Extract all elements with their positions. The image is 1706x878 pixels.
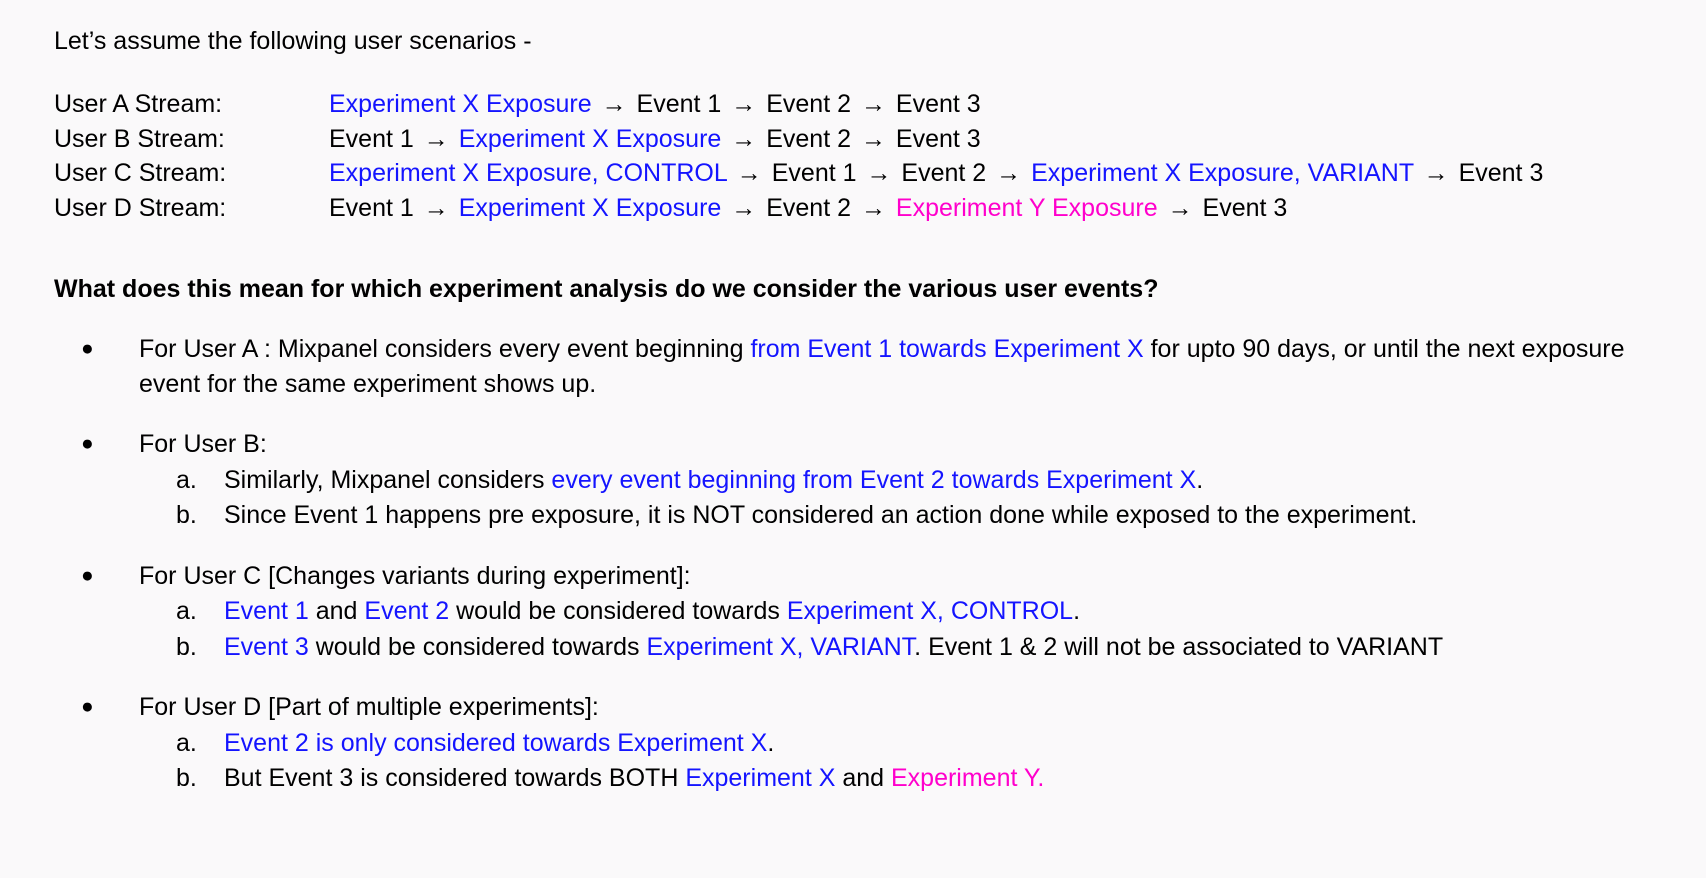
bullet-group-user-c: ●For User C [Changes variants during exp… [54,559,1654,665]
stream-segment-2: Event 1 [772,159,857,187]
sub-list-item-text: But Event 3 is considered towards BOTH E… [224,761,1654,796]
sub-segment-3: . Event 1 & 2 will not be associated to … [914,633,1443,661]
arrow-icon: → [858,194,889,222]
sub-list-item-text: Similarly, Mixpanel considers every even… [224,463,1654,498]
sub-list-item: a.Event 2 is only considered towards Exp… [54,726,1654,761]
list-item: ●For User D [Part of multiple experiment… [54,690,1654,725]
bullet-dot-icon: ● [81,690,94,725]
sub-segment-0: Event 3 [224,633,309,661]
user-streams-block: User A Stream:Experiment X Exposure → Ev… [54,87,1543,225]
stream-label: User C Stream: [54,156,329,191]
arrow-icon: → [1421,159,1452,187]
sub-list-marker: a. [176,594,197,629]
stream-segment-8: Event 3 [1203,194,1288,222]
sub-list-item-text: Event 3 would be considered towards Expe… [224,630,1654,665]
stream-segment-0: Experiment X Exposure [329,90,592,118]
sub-list-marker: b. [176,630,197,665]
list-item: ●For User A : Mixpanel considers every e… [54,332,1654,401]
bullet-dot-icon: ● [81,559,94,594]
sub-list-item-text: Event 2 is only considered towards Exper… [224,726,1654,761]
bullet-segment-1: from Event 1 towards Experiment X [750,335,1143,363]
bullet-segment-0: For User A : Mixpanel considers every ev… [139,335,750,363]
arrow-icon: → [858,90,889,118]
sub-list-item: b.Event 3 would be considered towards Ex… [54,630,1654,665]
bullet-group-user-a: ●For User A : Mixpanel considers every e… [54,332,1654,401]
arrow-icon: → [728,125,759,153]
arrow-icon: → [863,159,894,187]
sub-list-item-text: Since Event 1 happens pre exposure, it i… [224,498,1654,533]
stream-segment-0: Event 1 [329,125,414,153]
list-item-text: For User B: [139,427,1654,462]
sub-list-item-text: Event 1 and Event 2 would be considered … [224,594,1654,629]
stream-segment-4: Event 2 [766,194,851,222]
question-heading: What does this mean for which experiment… [54,272,1158,306]
sub-segment-1: . [767,729,774,757]
sub-segment-5: . [1073,597,1080,625]
sub-segment-0: Event 2 is only considered towards Exper… [224,729,767,757]
stream-segment-4: Event 2 [766,125,851,153]
stream-sequence: Event 1 → Experiment X Exposure → Event … [329,122,981,157]
sub-list-marker: b. [176,761,197,796]
sub-segment-0: But Event 3 is considered towards BOTH [224,764,685,792]
arrow-icon: → [421,194,452,222]
stream-row: User A Stream:Experiment X Exposure → Ev… [54,87,1543,122]
arrow-icon: → [858,125,889,153]
stream-label: User B Stream: [54,122,329,157]
stream-segment-6: Experiment X Exposure, VARIANT [1031,159,1414,187]
sub-segment-0: Similarly, Mixpanel considers [224,466,551,494]
stream-segment-0: Event 1 [329,194,414,222]
intro-text: Let’s assume the following user scenario… [54,27,532,55]
stream-segment-4: Event 2 [766,90,851,118]
sub-segment-1: and [309,597,365,625]
bullet-segment-0: For User C [Changes variants during expe… [139,562,691,590]
stream-row: User D Stream:Event 1 → Experiment X Exp… [54,191,1543,226]
arrow-icon: → [728,194,759,222]
sub-segment-2: Event 2 [364,597,449,625]
sub-list-marker: b. [176,498,197,533]
arrow-icon: → [421,125,452,153]
sub-list-item: a.Event 1 and Event 2 would be considere… [54,594,1654,629]
stream-segment-6: Experiment Y Exposure [896,194,1158,222]
sub-segment-0: Event 1 [224,597,309,625]
list-item: ●For User B: [54,427,1654,462]
list-item-text: For User C [Changes variants during expe… [139,559,1654,594]
bullet-dot-icon: ● [81,332,94,367]
stream-label: User A Stream: [54,87,329,122]
stream-segment-6: Event 3 [896,90,981,118]
arrow-icon: → [1165,194,1196,222]
sub-segment-2: and [835,764,891,792]
sub-list-marker: a. [176,726,197,761]
sub-list-marker: a. [176,463,197,498]
question-text: What does this mean for which experiment… [54,275,1158,303]
bullet-group-user-d: ●For User D [Part of multiple experiment… [54,690,1654,796]
arrow-icon: → [599,90,630,118]
sub-list-item: b.But Event 3 is considered towards BOTH… [54,761,1654,796]
stream-sequence: Experiment X Exposure → Event 1 → Event … [329,87,981,122]
sub-segment-2: Experiment X, VARIANT [646,633,914,661]
stream-sequence: Event 1 → Experiment X Exposure → Event … [329,191,1287,226]
sub-list-item: a.Similarly, Mixpanel considers every ev… [54,463,1654,498]
explanation-list: ●For User A : Mixpanel considers every e… [54,332,1654,796]
sub-list-item: b.Since Event 1 happens pre exposure, it… [54,498,1654,533]
sub-segment-4: Experiment X, CONTROL [787,597,1073,625]
arrow-icon: → [993,159,1024,187]
list-item-text: For User D [Part of multiple experiments… [139,690,1654,725]
sub-segment-1: every event beginning from Event 2 towar… [551,466,1196,494]
sub-segment-1: would be considered towards [309,633,647,661]
stream-segment-6: Event 3 [896,125,981,153]
stream-segment-2: Experiment X Exposure [459,125,722,153]
list-item: ●For User C [Changes variants during exp… [54,559,1654,594]
list-item-text: For User A : Mixpanel considers every ev… [139,332,1654,401]
stream-segment-8: Event 3 [1459,159,1544,187]
arrow-icon: → [728,90,759,118]
stream-segment-0: Experiment X Exposure, CONTROL [329,159,727,187]
sub-segment-3: Experiment Y. [891,764,1044,792]
bullet-dot-icon: ● [81,427,94,462]
stream-sequence: Experiment X Exposure, CONTROL → Event 1… [329,156,1543,191]
sub-segment-3: would be considered towards [449,597,787,625]
bullet-segment-0: For User D [Part of multiple experiments… [139,693,599,721]
stream-row: User C Stream:Experiment X Exposure, CON… [54,156,1543,191]
stream-segment-2: Event 1 [637,90,722,118]
bullet-group-user-b: ●For User B:a.Similarly, Mixpanel consid… [54,427,1654,533]
sub-segment-0: Since Event 1 happens pre exposure, it i… [224,501,1417,529]
document-page: Let’s assume the following user scenario… [0,0,1706,878]
stream-label: User D Stream: [54,191,329,226]
intro-line: Let’s assume the following user scenario… [54,24,532,58]
sub-segment-1: Experiment X [685,764,835,792]
stream-segment-4: Event 2 [901,159,986,187]
stream-row: User B Stream:Event 1 → Experiment X Exp… [54,122,1543,157]
stream-segment-2: Experiment X Exposure [459,194,722,222]
arrow-icon: → [734,159,765,187]
sub-segment-2: . [1196,466,1203,494]
bullet-segment-0: For User B: [139,430,267,458]
